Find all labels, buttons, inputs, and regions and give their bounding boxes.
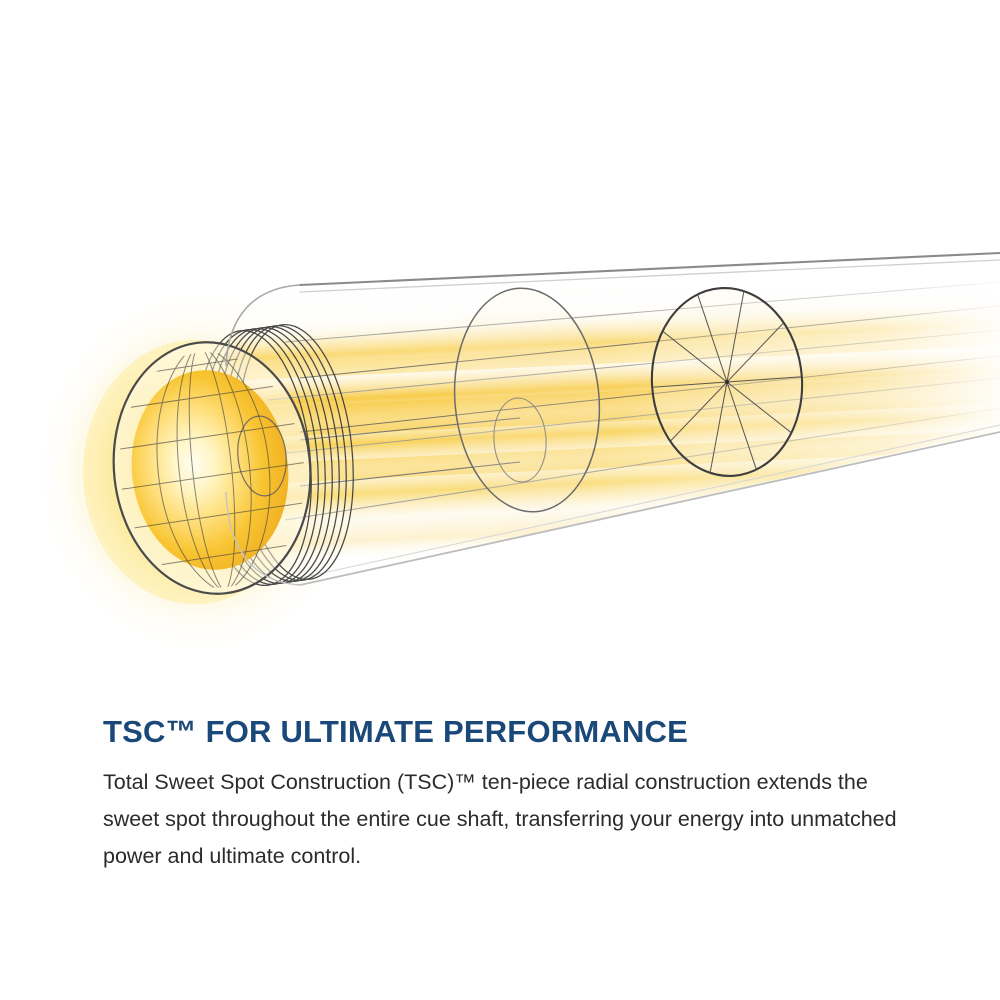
headline: TSC™ FOR ULTIMATE PERFORMANCE: [103, 714, 923, 750]
body-copy: Total Sweet Spot Construction (TSC)™ ten…: [103, 750, 903, 875]
cue-shaft-cutaway-illustration: [0, 0, 1000, 690]
caption-block: TSC™ FOR ULTIMATE PERFORMANCE Total Swee…: [103, 714, 923, 875]
feature-panel: TSC™ FOR ULTIMATE PERFORMANCE Total Swee…: [0, 0, 1000, 1000]
cue-shaft-svg: [0, 0, 1000, 690]
